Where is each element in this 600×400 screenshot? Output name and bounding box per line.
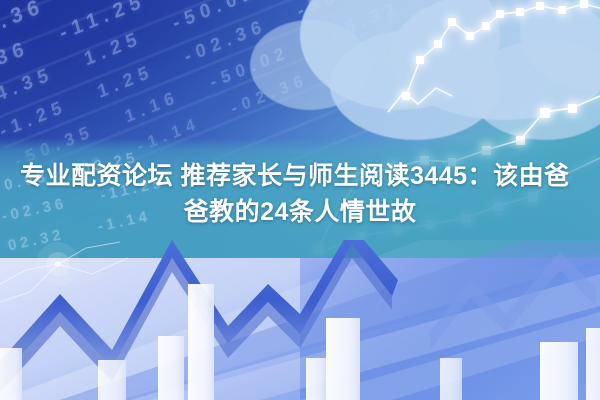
page-title-line-2: 爸教的24条人情世故	[8, 194, 592, 230]
banner-image: -50.02-02.36-11.2521.15-02.36-50.3545.02…	[0, 0, 600, 400]
lower-chart-artwork	[0, 240, 600, 400]
page-title: 专业配资论坛 推荐家长与师生阅读3445：该由爸 爸教的24条人情世故	[0, 158, 600, 230]
page-title-line-1: 专业配资论坛 推荐家长与师生阅读3445：该由爸	[8, 158, 592, 194]
